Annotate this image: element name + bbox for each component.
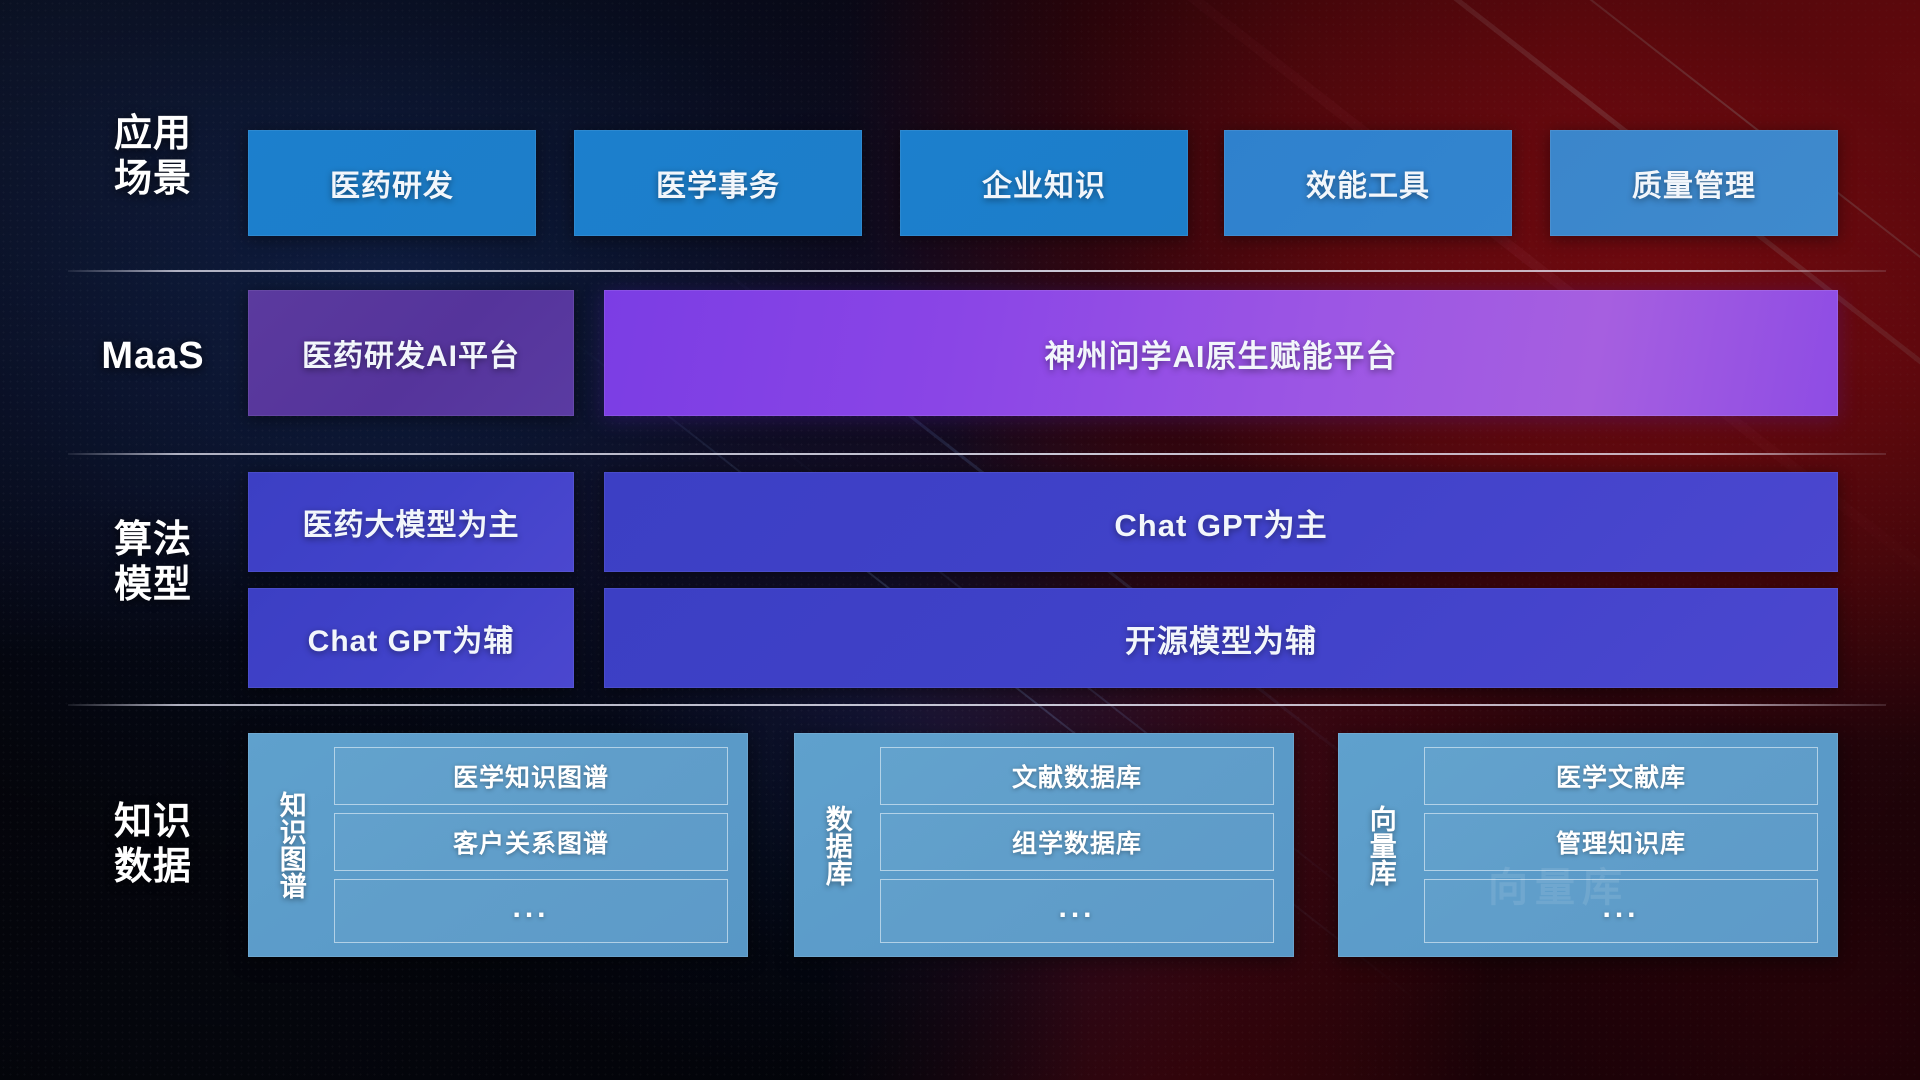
row-label-application-scenario: 应用 场景 [60,112,246,202]
knowledge-item-medical-knowledge-graph[interactable]: 医学知识图谱 [334,747,728,805]
app-box-efficiency-tools[interactable]: 效能工具 [1224,130,1512,236]
app-box-pharma-rnd[interactable]: 医药研发 [248,130,536,236]
architecture-diagram: 应用 场景 医药研发 医学事务 企业知识 效能工具 质量管理 MaaS 医药研发… [0,0,1920,1080]
knowledge-group-database[interactable]: 数据库 文献数据库 组学数据库 ... [794,733,1294,957]
app-box-medical-affairs[interactable]: 医学事务 [574,130,862,236]
row-label-line: 模型 [60,563,246,608]
knowledge-group-title: 知识图谱 [258,743,322,947]
knowledge-item-more-2[interactable]: ... [880,879,1274,943]
knowledge-item-omics-database[interactable]: 组学数据库 [880,813,1274,871]
app-box-enterprise-knowledge[interactable]: 企业知识 [900,130,1188,236]
row-label-line: 知识 [60,800,246,845]
knowledge-group-title: 向量库 [1348,743,1412,947]
knowledge-item-medical-literature-store[interactable]: 医学文献库 [1424,747,1818,805]
row-label-algorithm-model: 算法 模型 [60,518,246,608]
algorithm-box-chatgpt-primary[interactable]: Chat GPT为主 [604,472,1838,572]
knowledge-item-management-knowledge-base[interactable]: 管理知识库 [1424,813,1818,871]
algorithm-box-opensource-secondary[interactable]: 开源模型为辅 [604,588,1838,688]
row-label-knowledge-data: 知识 数据 [60,800,246,890]
row-label-line: MaaS [60,334,246,379]
knowledge-item-more-3[interactable]: ... [1424,879,1818,943]
knowledge-item-more-1[interactable]: ... [334,879,728,943]
row-label-line: 数据 [60,845,246,890]
knowledge-item-list: 医学知识图谱 客户关系图谱 ... [322,743,734,947]
knowledge-item-literature-database[interactable]: 文献数据库 [880,747,1274,805]
knowledge-item-list: 文献数据库 组学数据库 ... [868,743,1280,947]
divider-1 [68,270,1886,272]
maas-box-native-enablement-platform[interactable]: 神州问学AI原生赋能平台 [604,290,1838,416]
divider-2 [68,453,1886,455]
algorithm-box-chatgpt-secondary[interactable]: Chat GPT为辅 [248,588,574,688]
row-label-line: 应用 [60,112,246,157]
row-label-line: 场景 [60,157,246,202]
knowledge-item-list: 医学文献库 管理知识库 ... [1412,743,1824,947]
knowledge-group-vector-store[interactable]: 向量库 医学文献库 管理知识库 ... [1338,733,1838,957]
knowledge-group-knowledge-graph[interactable]: 知识图谱 医学知识图谱 客户关系图谱 ... [248,733,748,957]
maas-box-pharma-ai-platform[interactable]: 医药研发AI平台 [248,290,574,416]
knowledge-group-title: 数据库 [804,743,868,947]
app-box-quality-management[interactable]: 质量管理 [1550,130,1838,236]
row-label-maas: MaaS [60,334,246,379]
row-label-line: 算法 [60,518,246,563]
knowledge-item-customer-relation-graph[interactable]: 客户关系图谱 [334,813,728,871]
algorithm-box-pharma-llm-primary[interactable]: 医药大模型为主 [248,472,574,572]
divider-3 [68,704,1886,706]
